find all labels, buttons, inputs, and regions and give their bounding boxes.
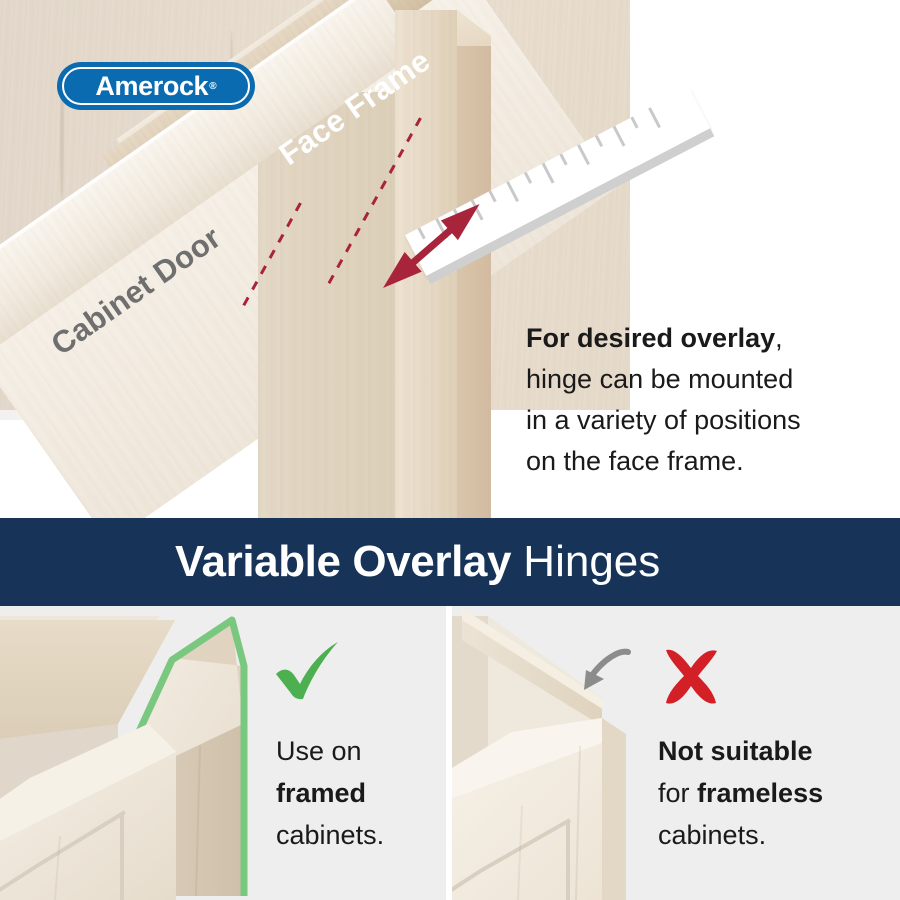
banner-title-bold: Variable Overlay bbox=[175, 537, 511, 586]
infographic-page: Face Frame Cabinet Door Amerock® bbox=[0, 0, 900, 900]
overlay-description-line-4: on the face frame. bbox=[526, 441, 876, 482]
banner-title: Variable Overlay Hinges bbox=[175, 540, 660, 584]
overlay-description-text: For desired overlay, hinge can be mounte… bbox=[526, 318, 876, 482]
red-x-icon bbox=[660, 648, 722, 706]
registered-trademark-icon: ® bbox=[209, 81, 216, 92]
frameless-text-line-2-emphasis: frameless bbox=[697, 778, 823, 808]
frameless-text-line-3: cabinets. bbox=[658, 814, 893, 856]
frameless-text-line-1: Not suitable bbox=[658, 730, 893, 772]
framed-text-line-1: Use on bbox=[276, 730, 446, 772]
top-illustration-section: Face Frame Cabinet Door Amerock® bbox=[0, 0, 900, 518]
framed-text-line-3: cabinets. bbox=[276, 814, 446, 856]
frameless-text-line-2-prefix: for bbox=[658, 778, 697, 808]
framed-text-line-2: framed bbox=[276, 772, 446, 814]
amerock-logo-text: Amerock bbox=[95, 73, 208, 100]
gray-curved-arrow-icon bbox=[574, 648, 632, 700]
frameless-text-line-2: for frameless bbox=[658, 772, 893, 814]
title-banner: Variable Overlay Hinges bbox=[0, 518, 900, 606]
cabinet-interior-panel bbox=[258, 92, 400, 518]
overlay-description-line-2: hinge can be mounted bbox=[526, 359, 876, 400]
frameless-cabinet-text: Not suitable for frameless cabinets. bbox=[658, 730, 893, 856]
overlay-description-emphasis: For desired overlay bbox=[526, 323, 775, 353]
overlay-description-comma: , bbox=[775, 323, 783, 353]
framed-cabinet-text: Use on framed cabinets. bbox=[276, 730, 446, 856]
face-frame-stile-side bbox=[457, 46, 491, 518]
overlay-description-line-1: For desired overlay, bbox=[526, 318, 876, 359]
amerock-logo: Amerock® bbox=[57, 62, 255, 110]
overlay-description-line-3: in a variety of positions bbox=[526, 400, 876, 441]
green-check-icon bbox=[272, 640, 342, 704]
banner-title-light: Hinges bbox=[523, 537, 660, 586]
